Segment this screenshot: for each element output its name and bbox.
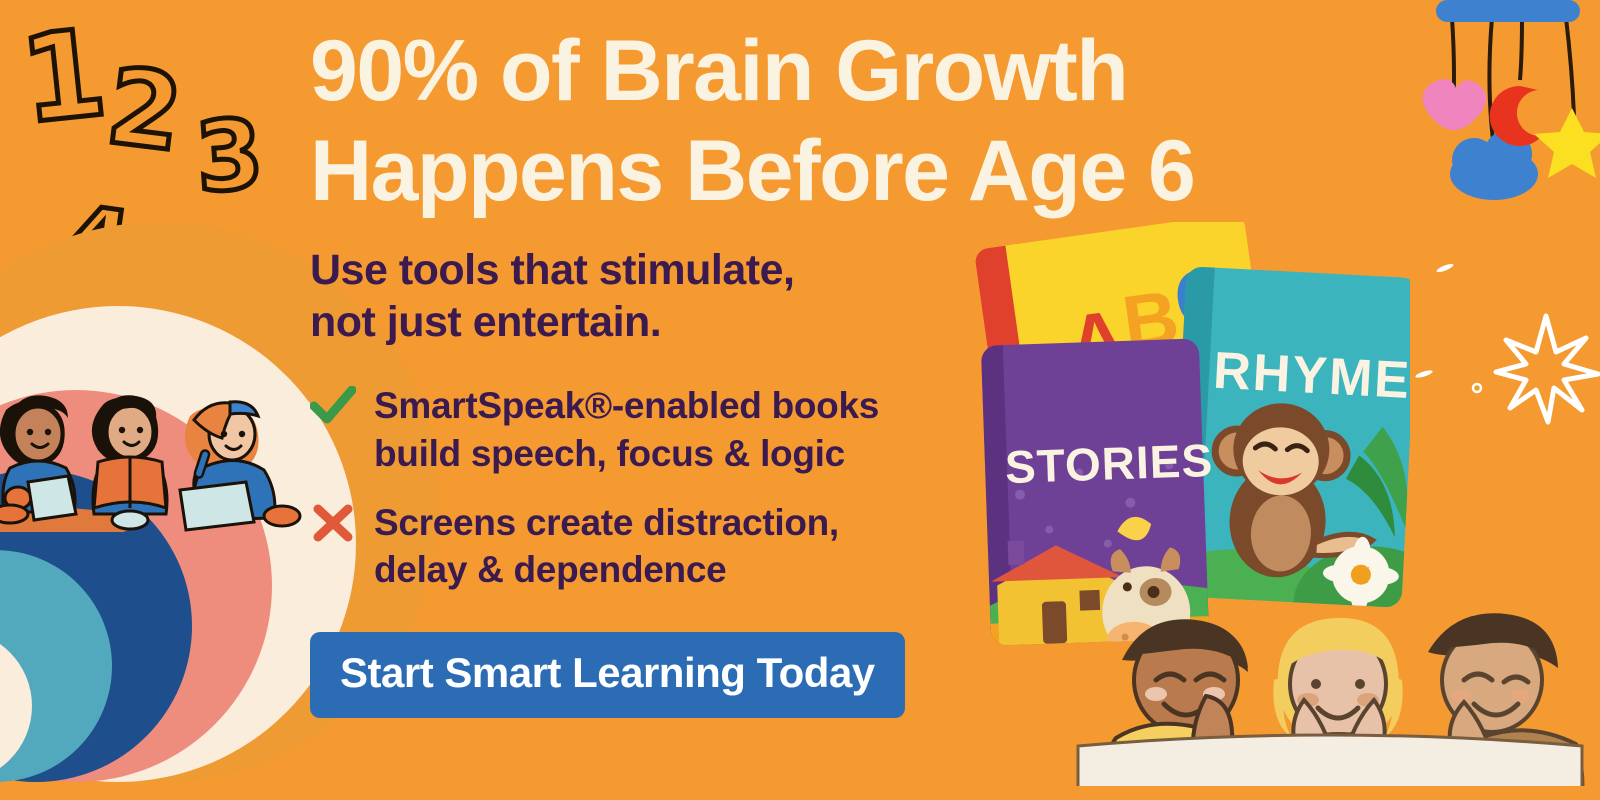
sparkle-starburst xyxy=(1496,316,1598,422)
child-reading-1 xyxy=(0,395,76,523)
bottom-strip xyxy=(0,786,1600,800)
decor-numbers: 1 2 3 4 5 xyxy=(0,0,320,320)
kids-at-table-illustration xyxy=(1060,588,1600,800)
child-table-2 xyxy=(1273,618,1402,800)
crescent-moon-shape xyxy=(1490,86,1542,146)
book-rhymes-title: RHYMES xyxy=(1212,342,1410,412)
benefit-list: SmartSpeak®-enabled books build speech, … xyxy=(310,382,990,593)
decor-number-5: 5 xyxy=(146,228,222,328)
bullet-2-line-1: Screens create distraction, xyxy=(374,502,839,543)
check-icon xyxy=(310,386,356,431)
subheadline: Use tools that stimulate, not just enter… xyxy=(310,244,990,349)
bullet-1-line-2: build speech, focus & logic xyxy=(374,433,845,474)
monkey-illustration xyxy=(1209,400,1380,582)
rainbow-arc-6 xyxy=(0,630,32,782)
rainbow-arc-3 xyxy=(0,390,272,782)
start-smart-learning-button[interactable]: Start Smart Learning Today xyxy=(310,632,905,718)
bullet-1-line-1: SmartSpeak®-enabled books xyxy=(374,385,879,426)
bullet-2-line-2: delay & dependence xyxy=(374,549,726,590)
book-abc-letter-c: C xyxy=(1169,249,1239,345)
rainbow-arc-2 xyxy=(0,306,356,782)
sparkle-decorations xyxy=(1400,240,1600,435)
bullet-text-1: SmartSpeak®-enabled books build speech, … xyxy=(374,382,879,477)
book-stories: STORIES xyxy=(981,338,1220,662)
subhead-line-2: not just entertain. xyxy=(310,298,661,346)
decor-number-4: 4 xyxy=(58,192,138,296)
heart-shape xyxy=(1422,79,1486,130)
banner-content: 90% of Brain Growth Happens Before Age 6… xyxy=(310,22,990,718)
list-item: SmartSpeak®-enabled books build speech, … xyxy=(310,382,990,477)
subhead-line-1: Use tools that stimulate, xyxy=(310,246,794,294)
promo-banner: 1 2 3 4 5 xyxy=(0,0,1600,800)
decor-number-3: 3 xyxy=(193,106,266,206)
book-rhymes: RHYMES xyxy=(1127,264,1410,662)
kids-reading-illustration xyxy=(0,372,314,537)
cow-illustration xyxy=(1100,547,1192,660)
baby-mobile-decoration xyxy=(1388,0,1600,211)
cloud-shape xyxy=(1450,130,1538,200)
star-shape xyxy=(1534,108,1600,178)
decor-number-2: 2 xyxy=(102,54,187,167)
headline-line-1: 90% of Brain Growth xyxy=(310,23,1127,119)
book-stories-title: STORIES xyxy=(1004,434,1214,493)
decor-number-1: 1 xyxy=(16,14,112,142)
bullet-text-2: Screens create distraction, delay & depe… xyxy=(374,499,839,594)
rainbow-arc-4 xyxy=(0,470,192,782)
page-title: 90% of Brain Growth Happens Before Age 6 xyxy=(310,22,990,222)
book-abc-letter-a: A xyxy=(1064,294,1130,386)
books-illustration: A B C xyxy=(930,222,1410,667)
mobile-bar xyxy=(1436,0,1580,22)
rainbow-arc-5 xyxy=(0,550,112,782)
daisy-flower xyxy=(1321,535,1401,615)
child-reading-3 xyxy=(98,402,300,530)
child-table-3 xyxy=(1428,613,1582,796)
cross-icon xyxy=(310,503,356,548)
book-abc-letter-b: B xyxy=(1118,275,1184,367)
book-abc: A B C xyxy=(974,222,1274,468)
child-table-1 xyxy=(1104,619,1248,788)
child-reading-2 xyxy=(92,395,167,529)
headline-line-2: Happens Before Age 6 xyxy=(310,123,1194,219)
list-item: Screens create distraction, delay & depe… xyxy=(310,499,990,594)
